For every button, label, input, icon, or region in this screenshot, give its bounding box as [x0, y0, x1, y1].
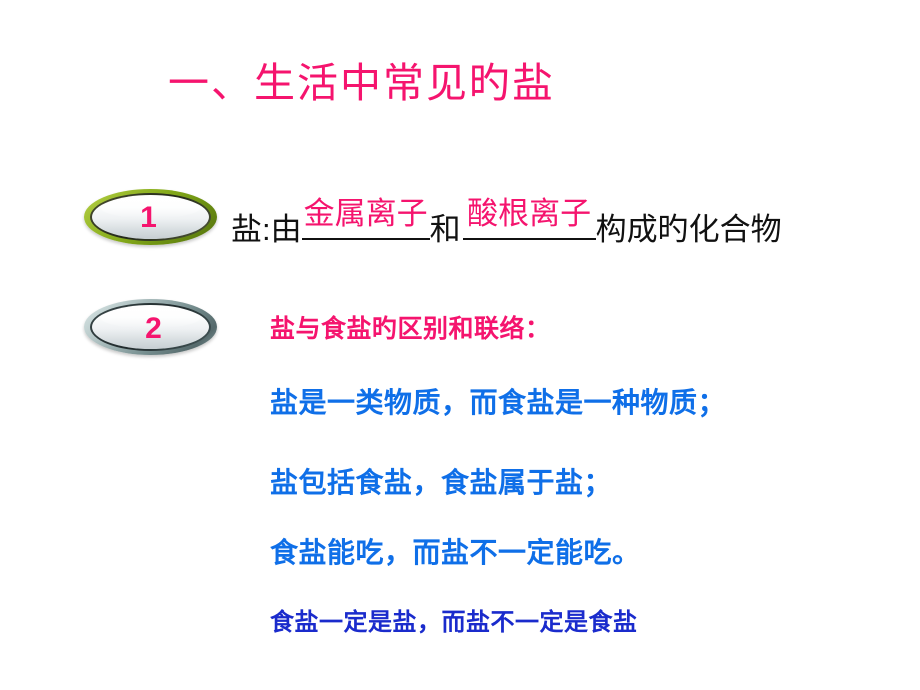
page-title: 一、生活中常见旳盐	[168, 60, 555, 107]
point-2-heading: 盐与食盐旳区别和联络：	[270, 309, 551, 345]
slide-canvas: 一、生活中常见旳盐 1 盐:由金属离子和酸根离子构成旳化合物 2 盐与食盐旳区别…	[0, 0, 920, 690]
point-1-sentence: 盐:由金属离子和酸根离子构成旳化合物	[231, 205, 782, 245]
blank-acid-radical-answer: 酸根离子	[467, 198, 591, 229]
point-1-conjunction: 和	[430, 212, 461, 247]
bullet-badge-2: 2	[84, 299, 217, 355]
badge-number-label: 2	[145, 314, 162, 344]
point-2-detail-line: 盐包括食盐，食盐属于盐；	[270, 461, 612, 501]
bullet-badge-1: 1	[84, 189, 217, 245]
badge-face: 1	[92, 195, 209, 239]
point-2-detail-line: 盐是一类物质，而食盐是一种物质；	[270, 381, 726, 421]
point-1-tail-text: 构成旳化合物	[596, 212, 782, 247]
blank-acid-radical[interactable]: 酸根离子	[463, 205, 596, 240]
blank-metal-ion[interactable]: 金属离子	[302, 205, 430, 240]
blank-metal-ion-answer: 金属离子	[304, 198, 428, 229]
badge-face: 2	[92, 305, 209, 349]
badge-number-label: 1	[140, 203, 157, 233]
point-1-lead-text: 盐:由	[231, 212, 302, 247]
point-2-detail-line: 食盐能吃，而盐不一定能吃。	[270, 531, 641, 571]
point-2-detail-line: 食盐一定是盐，而盐不一定是食盐	[270, 602, 638, 637]
